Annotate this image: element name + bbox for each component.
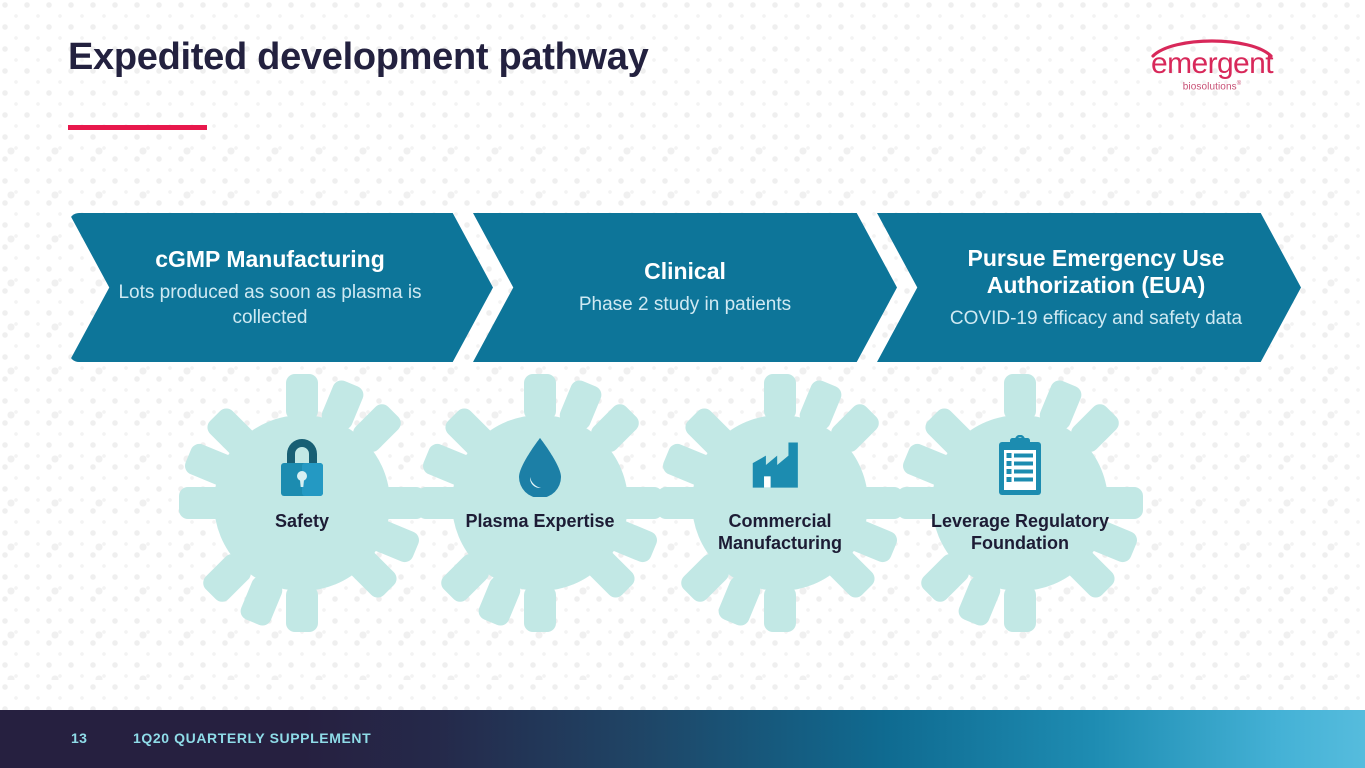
logo-wordmark: emergent (1141, 47, 1283, 81)
capability-content: Leverage Regulatory Foundation (894, 372, 1146, 634)
footer-label: 1Q20 QUARTERLY SUPPLEMENT (133, 730, 371, 746)
pathway-step-subtitle: Phase 2 study in patients (579, 292, 791, 317)
pathway-step-title: Pursue Emergency Use Authorization (EUA) (943, 245, 1249, 299)
capability-gear-leverage-regulatory-foundation[interactable]: Leverage Regulatory Foundation (894, 372, 1146, 634)
water-drop-icon (509, 434, 571, 498)
capability-label: Leverage Regulatory Foundation (925, 510, 1115, 554)
pathway-step-cgmp-manufacturing[interactable]: cGMP Manufacturing Lots produced as soon… (69, 213, 493, 362)
capability-gear-safety[interactable]: Safety (176, 372, 428, 634)
page-title: Expedited development pathway (68, 36, 648, 79)
capability-content: Safety (176, 372, 428, 634)
pathway-step-eua[interactable]: Pursue Emergency Use Authorization (EUA)… (877, 213, 1301, 362)
capability-content: Plasma Expertise (414, 372, 666, 634)
emergent-biosolutions-logo: emergent biosolutions® (1141, 36, 1283, 98)
capability-gear-plasma-expertise[interactable]: Plasma Expertise (414, 372, 666, 634)
lock-icon (271, 434, 333, 498)
pathway-step-title: Clinical (644, 258, 726, 285)
pathway-step-subtitle: COVID-19 efficacy and safety data (950, 306, 1242, 331)
pathway-step-clinical[interactable]: Clinical Phase 2 study in patients (473, 213, 897, 362)
pathway-step-subtitle: Lots produced as soon as plasma is colle… (113, 280, 427, 330)
factory-icon (749, 434, 811, 498)
capability-content: Commercial Manufacturing (654, 372, 906, 634)
pathway-step-title: cGMP Manufacturing (155, 246, 385, 273)
footer-bar: 13 1Q20 QUARTERLY SUPPLEMENT (0, 710, 1365, 768)
title-accent-rule (68, 125, 207, 130)
capability-gear-commercial-manufacturing[interactable]: Commercial Manufacturing (654, 372, 906, 634)
capability-label: Plasma Expertise (445, 510, 635, 532)
logo-tagline-text: biosolutions (1183, 81, 1237, 92)
logo-registered-mark: ® (1237, 81, 1242, 87)
footer-page-number: 13 (71, 730, 87, 746)
capability-label: Safety (207, 510, 397, 532)
logo-tagline: biosolutions® (1141, 81, 1283, 92)
slide-canvas: Expedited development pathway emergent b… (0, 0, 1365, 768)
capability-label: Commercial Manufacturing (685, 510, 875, 554)
clipboard-checklist-icon (989, 434, 1051, 498)
